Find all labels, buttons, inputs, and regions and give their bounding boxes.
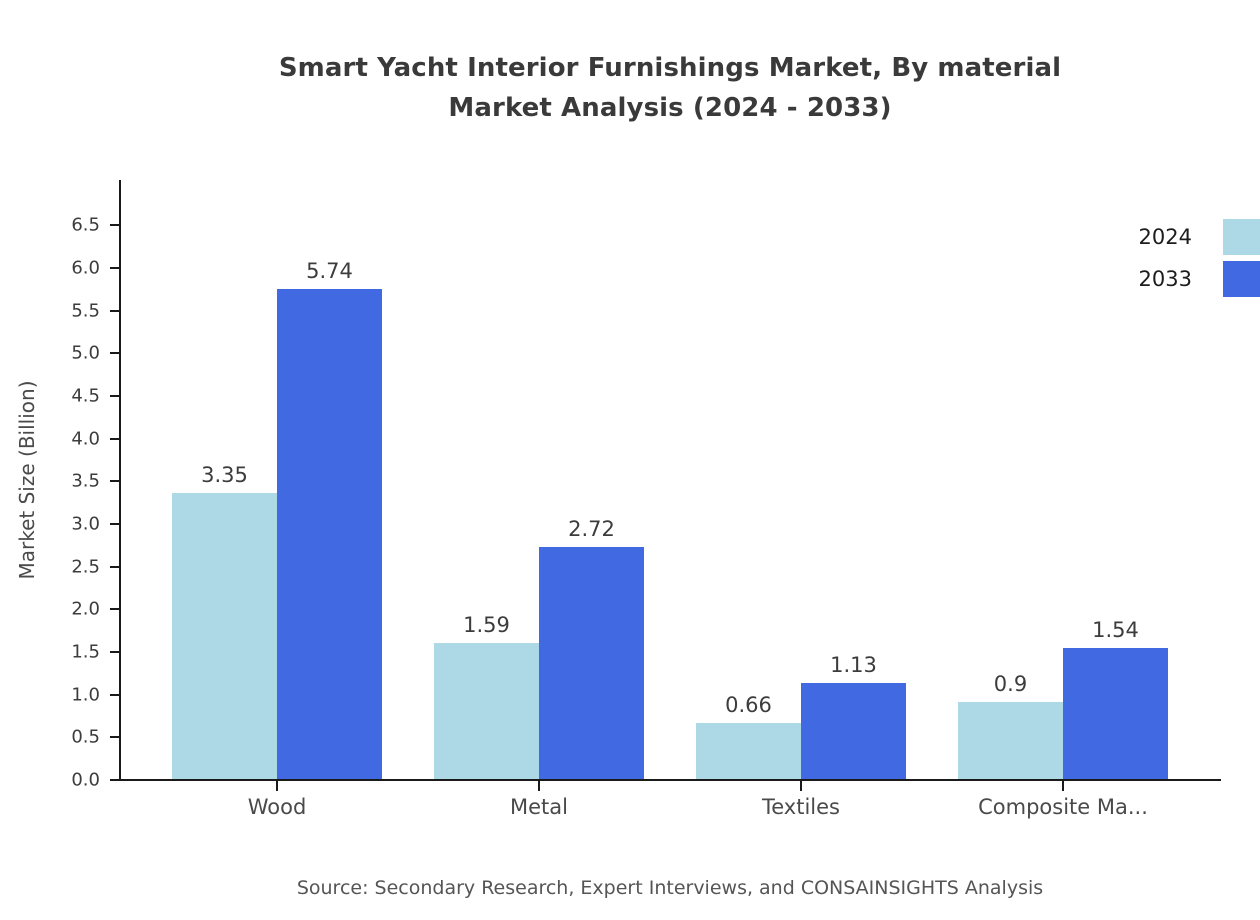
legend: 2024 2033	[1223, 219, 1260, 303]
y-tick-label: 1.0	[71, 684, 100, 705]
bar-value-label: 2.72	[568, 517, 615, 541]
y-tick: 2.0	[110, 608, 119, 610]
y-tick: 0.0	[110, 779, 119, 781]
bar-chart: Smart Yacht Interior Furnishings Market,…	[0, 0, 1260, 920]
x-tick-label: Textiles	[762, 795, 840, 819]
x-tick	[538, 781, 540, 791]
bar-value-label: 5.74	[306, 259, 353, 283]
bar-value-label: 3.35	[201, 463, 248, 487]
bar-2024-wood[interactable]: 3.35	[172, 493, 277, 779]
x-tick-label: Wood	[248, 795, 307, 819]
y-tick-label: 5.0	[71, 343, 100, 364]
bar-value-label: 0.66	[725, 693, 772, 717]
y-tick: 3.0	[110, 523, 119, 525]
y-tick-label: 4.0	[71, 428, 100, 449]
x-tick-label: Composite Ma...	[978, 795, 1148, 819]
source-note: Source: Secondary Research, Expert Inter…	[0, 877, 1260, 899]
y-tick: 1.0	[110, 694, 119, 696]
y-tick: 4.5	[110, 395, 119, 397]
bar-value-label: 1.54	[1092, 618, 1139, 642]
y-tick: 1.5	[110, 651, 119, 653]
x-tick	[800, 781, 802, 791]
x-axis-line	[119, 779, 1221, 781]
bar-value-label: 1.59	[463, 613, 510, 637]
bar-2033-textiles[interactable]: 1.13	[801, 683, 906, 779]
plot-area: Market Size (Billion) 0.00.51.01.52.02.5…	[119, 180, 1221, 781]
bar-value-label: 0.9	[994, 672, 1027, 696]
x-tick-label: Metal	[510, 795, 568, 819]
y-tick: 3.5	[110, 480, 119, 482]
chart-title-line-2: Market Analysis (2024 - 2033)	[0, 88, 1260, 128]
chart-title-line-1: Smart Yacht Interior Furnishings Market,…	[279, 53, 1061, 83]
bar-2024-textiles[interactable]: 0.66	[696, 723, 801, 779]
y-tick: 2.5	[110, 566, 119, 568]
legend-swatch-2024	[1223, 219, 1260, 255]
y-tick-label: 0.0	[71, 770, 100, 791]
y-tick-label: 2.0	[71, 599, 100, 620]
y-tick-label: 1.5	[71, 642, 100, 663]
y-tick-label: 4.5	[71, 386, 100, 407]
bar-2024-metal[interactable]: 1.59	[434, 643, 539, 779]
y-tick-label: 6.5	[71, 215, 100, 236]
legend-label-2024: 2024	[1139, 225, 1192, 249]
y-axis-line	[119, 180, 121, 781]
y-tick-label: 3.5	[71, 471, 100, 492]
y-tick: 6.0	[110, 267, 119, 269]
bar-2033-metal[interactable]: 2.72	[539, 547, 644, 779]
y-axis-title: Market Size (Billion)	[15, 381, 39, 580]
y-tick-label: 3.0	[71, 514, 100, 535]
legend-item-2024[interactable]: 2024	[1223, 219, 1260, 255]
bar-2024-composite-ma-[interactable]: 0.9	[958, 702, 1063, 779]
y-tick-label: 5.5	[71, 300, 100, 321]
legend-label-2033: 2033	[1139, 267, 1192, 291]
bar-2033-wood[interactable]: 5.74	[277, 289, 382, 779]
y-tick: 4.0	[110, 438, 119, 440]
bar-2033-composite-ma-[interactable]: 1.54	[1063, 648, 1168, 779]
y-tick: 0.5	[110, 736, 119, 738]
x-tick	[1062, 781, 1064, 791]
x-tick	[276, 781, 278, 791]
y-tick: 5.0	[110, 352, 119, 354]
bar-value-label: 1.13	[830, 653, 877, 677]
legend-swatch-2033	[1223, 261, 1260, 297]
y-tick: 5.5	[110, 310, 119, 312]
chart-title: Smart Yacht Interior Furnishings Market,…	[0, 48, 1260, 128]
y-tick-label: 6.0	[71, 258, 100, 279]
y-tick-label: 2.5	[71, 556, 100, 577]
y-tick: 6.5	[110, 224, 119, 226]
legend-item-2033[interactable]: 2033	[1223, 261, 1260, 297]
y-tick-label: 0.5	[71, 727, 100, 748]
